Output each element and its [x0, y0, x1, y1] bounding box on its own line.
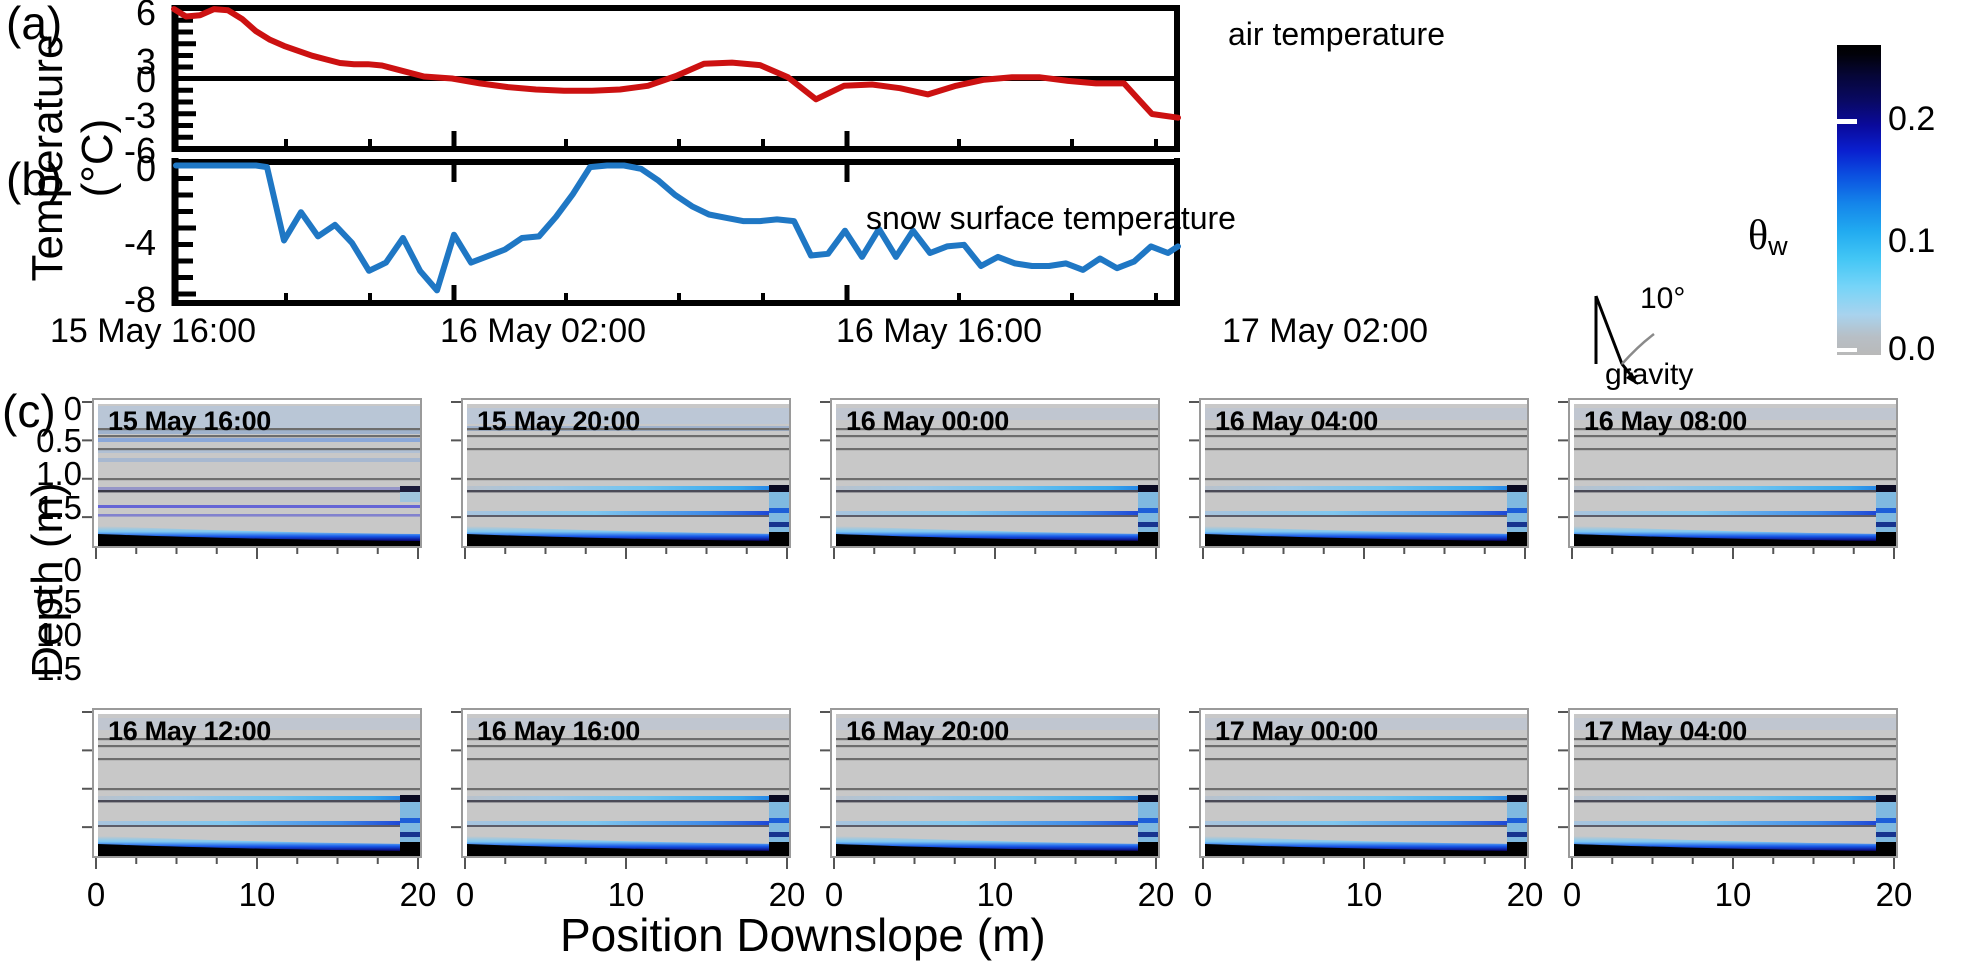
field-cell: [400, 818, 420, 823]
field-cell: [836, 800, 1158, 802]
subplot-xtick-marks: [92, 548, 422, 562]
field-cell: [1574, 490, 1896, 492]
subplot-ytick-marks: [448, 708, 462, 858]
field-cell: [98, 438, 420, 442]
field-cell: [836, 788, 1158, 790]
field-cell: [769, 532, 789, 546]
field-cell: [400, 486, 420, 492]
ytick-c-r1-10: 1.0: [18, 616, 82, 654]
ytick-c-r0-15: 1.5: [18, 489, 82, 527]
field-cell: [400, 795, 420, 802]
field-cell: [467, 511, 789, 515]
panel-c-subplot: 16 May 12:00: [92, 708, 422, 858]
field-cell: [1507, 832, 1527, 837]
field-cell: [1574, 788, 1896, 790]
field-cell: [1205, 825, 1527, 827]
field-cell: [98, 490, 420, 492]
field-cell: [467, 825, 789, 827]
field-cell: [98, 514, 420, 517]
field-cell: [1205, 515, 1527, 517]
field-cell: [1205, 796, 1527, 801]
field-cell: [467, 448, 789, 450]
field-cell: [98, 448, 420, 450]
gravity-label: gravity: [1605, 358, 1693, 392]
field-cell: [1507, 818, 1527, 823]
field-cell: [836, 486, 1158, 491]
field-cell: [400, 842, 420, 856]
subplot-xtick-marks: [92, 858, 422, 872]
subplot-xtick-marks: [1199, 548, 1529, 562]
field-cell: [1205, 758, 1527, 760]
ytick-a-6: 6: [96, 0, 156, 34]
subplot-title: 16 May 20:00: [846, 716, 1009, 747]
panel-c-subplot: 16 May 04:00: [1199, 398, 1529, 548]
field-cell: [836, 478, 1158, 480]
ytick-c-r0-10: 1.0: [18, 455, 82, 493]
field-cell: [1205, 490, 1527, 492]
field-cell: [467, 800, 789, 802]
field-cell: [1574, 486, 1896, 491]
field-cell: [98, 821, 420, 825]
field-cell: [98, 758, 420, 760]
field-cell: [1876, 818, 1896, 823]
field-cell: [836, 825, 1158, 827]
subplot-xtick-label: 0: [1550, 876, 1594, 914]
field-cell: [836, 821, 1158, 825]
field-cell: [1876, 508, 1896, 513]
subplot-xtick-label: 10: [1342, 876, 1386, 914]
ytick-b-0: 0: [96, 148, 156, 190]
colorbar-label-00: 0.0: [1888, 330, 1935, 369]
panel-c-subplot: 15 May 20:00: [461, 398, 791, 548]
field-cell: [98, 796, 420, 801]
subplot-title: 17 May 00:00: [1215, 716, 1378, 747]
subplot-xtick-label: 10: [1711, 876, 1755, 914]
field-cell: [1574, 796, 1896, 801]
field-cell: [1574, 448, 1896, 450]
panel-c-subplot: 17 May 04:00: [1568, 708, 1898, 858]
subplot-xtick-marks: [830, 548, 1160, 562]
subplot-xtick-marks: [1568, 548, 1898, 562]
field-cell: [1507, 532, 1527, 546]
subplot-xtick-marks: [461, 548, 791, 562]
field-cell: [1574, 515, 1896, 517]
field-cell: [1205, 821, 1527, 825]
field-cell: [467, 796, 789, 801]
field-cell: [836, 448, 1158, 450]
panel-a-annotation: air temperature: [1228, 16, 1445, 53]
field-cell: [400, 492, 420, 502]
field-cell: [400, 832, 420, 837]
colorbar-tick-00: [1837, 348, 1857, 352]
field-cell: [836, 490, 1158, 492]
subplot-xtick-marks: [830, 858, 1160, 872]
subplot-xtick-label: 20: [1872, 876, 1916, 914]
field-cell: [467, 490, 789, 492]
subplot-title: 16 May 12:00: [108, 716, 271, 747]
field-cell: [1138, 832, 1158, 837]
field-cell: [1574, 511, 1896, 515]
slope-line: [1596, 296, 1622, 364]
field-cell: [1205, 511, 1527, 515]
subplot-title: 16 May 04:00: [1215, 406, 1378, 437]
subplot-xtick-label: 10: [235, 876, 279, 914]
field-cell: [98, 487, 420, 490]
field-cell: [467, 821, 789, 825]
panel-c-subplot: 16 May 20:00: [830, 708, 1160, 858]
subplot-title: 15 May 16:00: [108, 406, 271, 437]
subplot-title: 16 May 16:00: [477, 716, 640, 747]
field-cell: [467, 515, 789, 517]
position-downslope-axis-title: Position Downslope (m): [560, 908, 1046, 962]
panel-c-subplot: 16 May 08:00: [1568, 398, 1898, 548]
field-cell: [1138, 522, 1158, 527]
subplot-xtick-label: 20: [1134, 876, 1178, 914]
field-cell: [1205, 788, 1527, 790]
theta-subscript: w: [1768, 231, 1788, 261]
subplot-xtick-label: 20: [396, 876, 440, 914]
field-cell: [467, 788, 789, 790]
field-cell: [1138, 795, 1158, 802]
field-cell: [1876, 832, 1896, 837]
field-cell: [1205, 448, 1527, 450]
field-cell: [467, 486, 789, 491]
subplot-xtick-marks: [461, 858, 791, 872]
field-cell: [467, 478, 789, 480]
field-cell: [769, 522, 789, 527]
field-cell: [769, 508, 789, 513]
panel-label-b: (b): [6, 152, 62, 206]
xtick-label-0: 15 May 16:00: [50, 312, 256, 351]
field-cell: [1574, 758, 1896, 760]
xtick-label-2: 16 May 16:00: [836, 312, 1042, 351]
field-cell: [836, 758, 1158, 760]
field-cell: [1138, 532, 1158, 546]
subplot-ytick-marks: [1186, 708, 1200, 858]
ytick-c-r1-15: 1.5: [18, 650, 82, 688]
panel-a-svg: [172, 5, 1180, 152]
panel-c-subplot: 16 May 00:00: [830, 398, 1160, 548]
field-cell: [1574, 478, 1896, 480]
field-cell: [1205, 478, 1527, 480]
panel-c-subplot: 15 May 16:00: [92, 398, 422, 548]
subplot-ytick-marks: [448, 398, 462, 548]
panel-c-subplot: 16 May 16:00: [461, 708, 791, 858]
field-cell: [98, 478, 420, 480]
field-cell: [1876, 842, 1896, 856]
subplot-xtick-label: 20: [1503, 876, 1547, 914]
subplot-xtick-label: 0: [443, 876, 487, 914]
subplot-ytick-marks: [1555, 398, 1569, 548]
field-cell: [98, 825, 420, 827]
xtick-label-3: 17 May 02:00: [1222, 312, 1428, 351]
panel-c-subplot: 17 May 00:00: [1199, 708, 1529, 858]
colorbar-title: θw: [1748, 212, 1788, 262]
field-cell: [1876, 485, 1896, 492]
field-cell: [1138, 818, 1158, 823]
field-cell: [467, 758, 789, 760]
field-cell: [1138, 508, 1158, 513]
panel-a-plot: [172, 5, 1180, 152]
subplot-xtick-label: 0: [1181, 876, 1225, 914]
subplot-ytick-marks: [817, 708, 831, 858]
slope-angle-label: 10°: [1640, 282, 1685, 316]
field-cell: [1205, 486, 1527, 491]
ytick-b-neg4: -4: [82, 222, 156, 264]
field-cell: [1507, 842, 1527, 856]
subplot-title: 16 May 00:00: [846, 406, 1009, 437]
field-cell: [1507, 522, 1527, 527]
field-cell: [769, 795, 789, 802]
subplot-ytick-marks: [1555, 708, 1569, 858]
subplot-title: 17 May 04:00: [1584, 716, 1747, 747]
subplot-ytick-marks: [79, 398, 93, 548]
field-cell: [98, 800, 420, 802]
field-cell: [769, 818, 789, 823]
subplot-xtick-marks: [1199, 858, 1529, 872]
subplot-xtick-label: 0: [74, 876, 118, 914]
field-cell: [1574, 825, 1896, 827]
field-cell: [1876, 795, 1896, 802]
field-cell: [769, 842, 789, 856]
field-cell: [98, 788, 420, 790]
field-cell: [98, 458, 420, 462]
field-cell: [1507, 795, 1527, 802]
field-cell: [1138, 485, 1158, 492]
subplot-ytick-marks: [817, 398, 831, 548]
field-cell: [1138, 842, 1158, 856]
colorbar-label-02: 0.2: [1888, 100, 1935, 139]
subplot-ytick-marks: [79, 708, 93, 858]
field-cell: [1507, 508, 1527, 513]
theta-symbol: θ: [1748, 213, 1768, 259]
field-cell: [1876, 532, 1896, 546]
subplot-xtick-marks: [1568, 858, 1898, 872]
subplot-ytick-marks: [1186, 398, 1200, 548]
field-cell: [1205, 800, 1527, 802]
field-cell: [836, 796, 1158, 801]
field-cell: [1574, 800, 1896, 802]
colorbar: [1837, 45, 1881, 355]
field-cell: [836, 515, 1158, 517]
field-cell: [1574, 821, 1896, 825]
xtick-label-1: 16 May 02:00: [440, 312, 646, 351]
field-cell: [769, 485, 789, 492]
field-cell: [769, 832, 789, 837]
colorbar-label-01: 0.1: [1888, 222, 1935, 261]
field-cell: [98, 505, 420, 508]
subplot-title: 15 May 20:00: [477, 406, 640, 437]
field-cell: [1507, 485, 1527, 492]
field-cell: [1876, 522, 1896, 527]
subplot-title: 16 May 08:00: [1584, 406, 1747, 437]
panel-b-annotation: snow surface temperature: [866, 200, 1236, 237]
field-cell: [836, 511, 1158, 515]
colorbar-tick-02: [1837, 119, 1857, 124]
